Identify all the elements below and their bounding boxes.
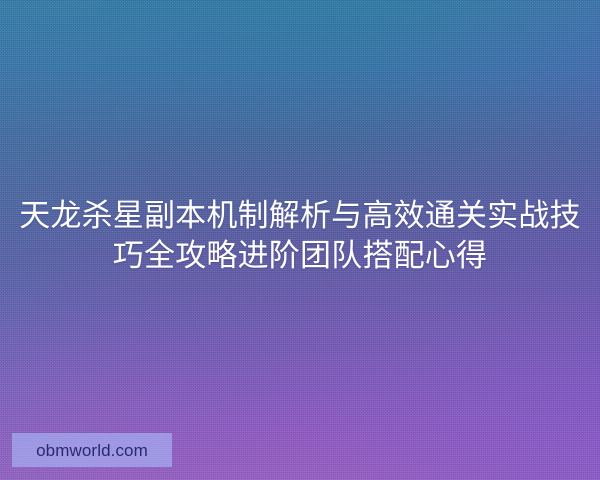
- banner-image: 天龙杀星副本机制解析与高效通关实战技巧全攻略进阶团队搭配心得 obmworld.…: [0, 0, 600, 480]
- watermark-label: obmworld.com: [36, 442, 148, 459]
- watermark-badge: obmworld.com: [12, 433, 172, 467]
- banner-title: 天龙杀星副本机制解析与高效通关实战技巧全攻略进阶团队搭配心得: [0, 196, 600, 276]
